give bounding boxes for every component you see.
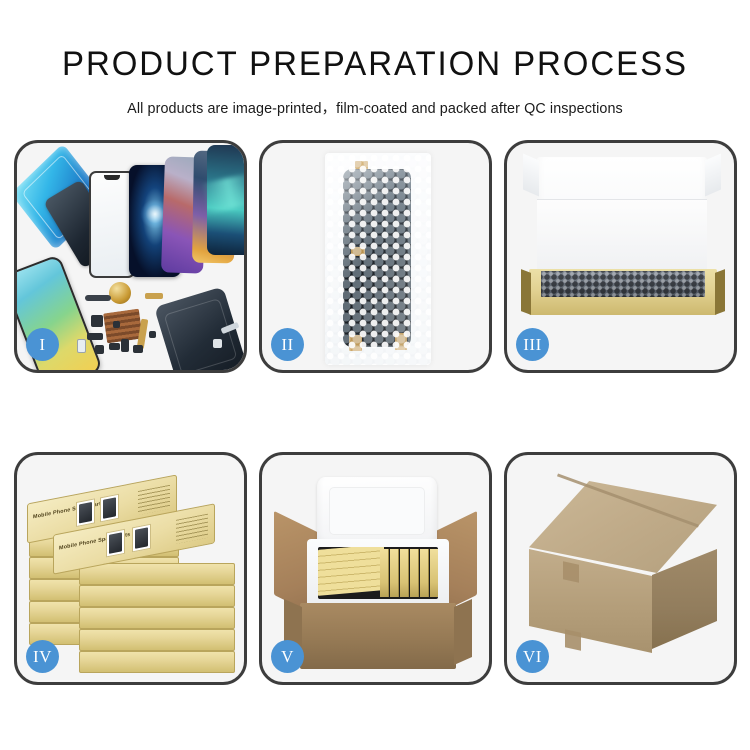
yellow-box-item <box>390 549 399 597</box>
foam-sheet-icon <box>537 199 707 271</box>
step-badge-3: III <box>516 328 549 361</box>
process-step-6: VI <box>504 452 737 685</box>
small-part-icon <box>113 321 120 328</box>
small-part-icon <box>149 331 156 338</box>
box-spec-lines <box>138 485 170 515</box>
process-step-2: II <box>259 140 492 373</box>
small-part-icon <box>109 343 120 350</box>
box-window <box>106 529 125 558</box>
page-root: PRODUCT PREPARATION PROCESS All products… <box>0 0 750 750</box>
page-title: PRODUCT PREPARATION PROCESS <box>11 47 739 81</box>
small-part-icon <box>85 295 111 301</box>
small-part-icon <box>121 339 129 352</box>
process-step-4: Mobile Phone Spare Parts Mobile Phone Sp… <box>14 452 247 685</box>
small-part-icon <box>95 345 104 354</box>
phone-screen-teal-icon <box>207 145 247 255</box>
anti-static-foam-icon <box>541 271 705 297</box>
yellow-box-item <box>420 549 429 597</box>
box-layer <box>79 563 235 585</box>
small-part-icon <box>77 339 86 353</box>
process-step-1: I <box>14 140 247 373</box>
step-badge-5: V <box>271 640 304 673</box>
process-step-3: III <box>504 140 737 373</box>
yellow-box-item <box>380 549 389 597</box>
yellow-box-item <box>410 549 419 597</box>
speaker-module-icon <box>109 282 131 304</box>
box-layer <box>79 651 235 673</box>
step-badge-1: I <box>26 328 59 361</box>
foam-cavity <box>318 547 438 599</box>
yellow-box-stack <box>318 547 384 596</box>
yellow-box-item <box>430 549 438 597</box>
yellow-box-item <box>400 549 409 597</box>
carton-tape-upper <box>563 561 579 582</box>
step-badge-4: IV <box>26 640 59 673</box>
carton-front-panel <box>300 603 456 669</box>
box-layer <box>79 607 235 629</box>
box-window <box>100 494 119 523</box>
step-badge-2: II <box>271 328 304 361</box>
small-part-icon <box>133 345 143 353</box>
box-window <box>132 524 151 553</box>
box-layer <box>79 629 235 651</box>
small-part-icon <box>213 339 222 348</box>
bubble-wrap-package-icon <box>325 153 431 365</box>
process-grid: I II <box>14 140 736 685</box>
page-subtitle: All products are image-printed，film-coat… <box>4 97 747 118</box>
process-step-5: V <box>259 452 492 685</box>
step-badge-6: VI <box>516 640 549 673</box>
box-layer <box>79 585 235 607</box>
small-part-icon <box>87 333 103 340</box>
box-window <box>76 498 95 527</box>
small-part-icon <box>91 315 103 327</box>
flex-cable-icon <box>145 293 163 299</box>
carton-tape-lower <box>565 629 581 650</box>
plastic-sheen <box>325 153 431 365</box>
box-spec-lines <box>176 514 208 544</box>
header: PRODUCT PREPARATION PROCESS All products… <box>0 0 750 118</box>
